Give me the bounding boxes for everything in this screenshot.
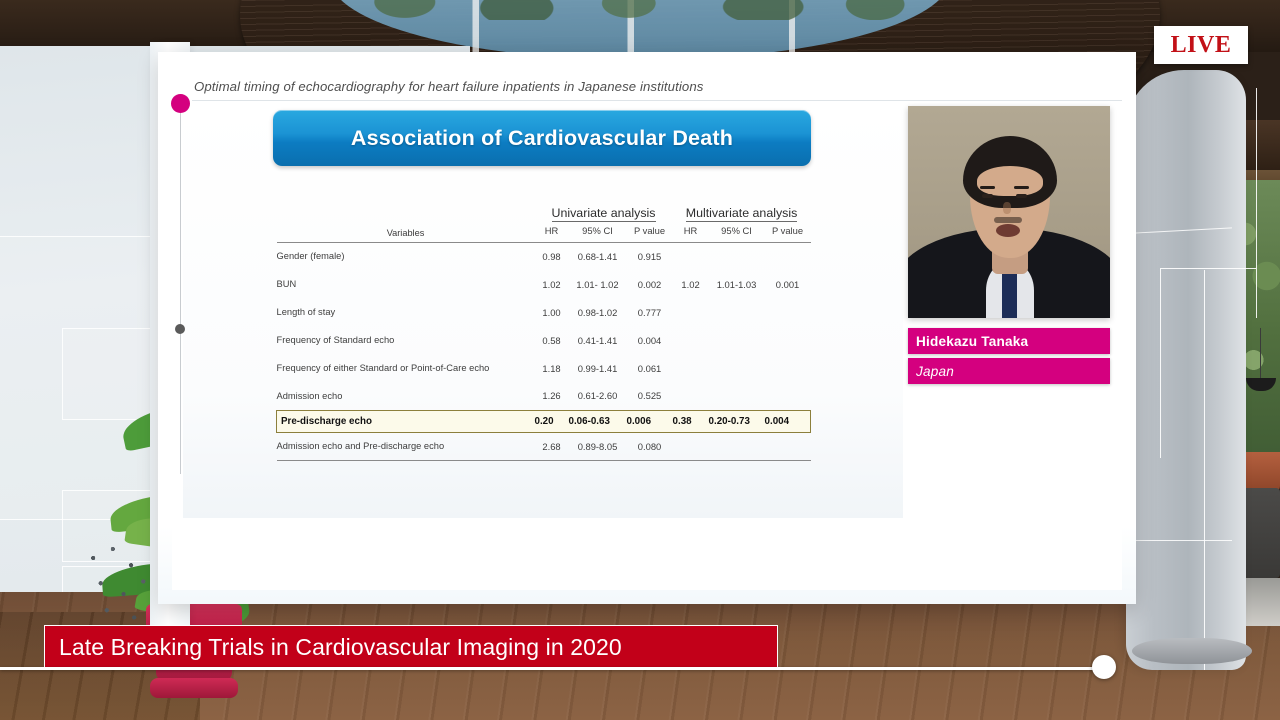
cell-multi-ci <box>709 432 765 460</box>
slide-progress-marker[interactable] <box>171 94 190 113</box>
cell-multi-hr <box>673 242 709 270</box>
cell-uni-ci: 0.99-1.41 <box>569 354 627 382</box>
cell-uni-ci: 0.89-8.05 <box>569 432 627 460</box>
column-header-variables: Variables <box>277 206 535 241</box>
cell-multi-hr: 0.38 <box>673 410 709 432</box>
cell-uni-ci: 1.01- 1.02 <box>569 270 627 298</box>
cell-uni-ci: 0.68-1.41 <box>569 242 627 270</box>
speaker-mouth <box>996 224 1020 237</box>
cell-uni-hr: 0.20 <box>535 410 569 432</box>
table-row: Length of stay1.000.98-1.020.777 <box>277 298 811 326</box>
lower-third-title: Late Breaking Trials in Cardiovascular I… <box>45 634 622 661</box>
cell-variable: Pre-discharge echo <box>277 410 535 432</box>
group-header-multivariate: Multivariate analysis <box>673 206 811 225</box>
speaker-nose <box>1003 202 1011 214</box>
speaker-video-feed[interactable] <box>908 106 1110 318</box>
speaker-country: Japan <box>908 364 954 379</box>
column-frame <box>1160 268 1256 458</box>
table-row: Frequency of Standard echo0.580.41-1.410… <box>277 326 811 354</box>
live-badge: LIVE <box>1154 26 1248 64</box>
cell-multi-hr <box>673 432 709 460</box>
cell-uni-hr: 1.02 <box>535 270 569 298</box>
cell-uni-hr: 0.58 <box>535 326 569 354</box>
cell-uni-hr: 0.98 <box>535 242 569 270</box>
table-row: Admission echo1.260.61-2.600.525 <box>277 382 811 410</box>
table-footer-rule <box>277 460 811 461</box>
cell-multi-ci: 1.01-1.03 <box>709 270 765 298</box>
cell-multi-hr <box>673 298 709 326</box>
table-group-header-row: Variables Univariate analysis Multivaria… <box>277 206 811 225</box>
cell-uni-hr: 1.00 <box>535 298 569 326</box>
cell-multi-ci <box>709 298 765 326</box>
cell-multi-p: 0.001 <box>765 270 811 298</box>
table-row-highlighted: Pre-discharge echo0.200.06-0.630.0060.38… <box>277 410 811 432</box>
cell-variable: Gender (female) <box>277 242 535 270</box>
column-header-uni-hr: HR <box>535 225 569 241</box>
cell-uni-ci: 0.61-2.60 <box>569 382 627 410</box>
slide-scroll-thumb[interactable] <box>175 324 185 334</box>
slide-subtitle: Optimal timing of echocardiography for h… <box>194 79 894 94</box>
cell-multi-p <box>765 432 811 460</box>
cell-multi-ci: 0.20-0.73 <box>709 410 765 432</box>
speaker-eye-right <box>1016 194 1027 198</box>
speaker-eye-left <box>982 194 993 198</box>
skylight-foliage <box>360 0 920 20</box>
cell-multi-hr <box>673 354 709 382</box>
speaker-eyebrow-right <box>1014 186 1029 189</box>
cell-multi-p <box>765 382 811 410</box>
cell-uni-ci: 0.41-1.41 <box>569 326 627 354</box>
column-header-multi-hr: HR <box>673 225 709 241</box>
speaker-moustache <box>994 217 1022 223</box>
live-badge-label: LIVE <box>1171 32 1232 59</box>
cell-variable: Frequency of Standard echo <box>277 326 535 354</box>
column-header-uni-ci: 95% CI <box>569 225 627 241</box>
column-seam <box>1256 88 1257 318</box>
cell-multi-p <box>765 242 811 270</box>
cell-variable: Admission echo <box>277 382 535 410</box>
cell-uni-p: 0.915 <box>627 242 673 270</box>
table-row: Admission echo and Pre-discharge echo2.6… <box>277 432 811 460</box>
cell-variable: Admission echo and Pre-discharge echo <box>277 432 535 460</box>
column-header-multi-ci: 95% CI <box>709 225 765 241</box>
playback-timeline-handle[interactable] <box>1092 655 1116 679</box>
speaker-panel: Hidekazu Tanaka Japan <box>908 106 1110 391</box>
cell-uni-p: 0.061 <box>627 354 673 382</box>
table-row: Gender (female)0.980.68-1.410.915 <box>277 242 811 270</box>
cell-variable: Length of stay <box>277 298 535 326</box>
cell-multi-ci <box>709 242 765 270</box>
cell-multi-hr <box>673 326 709 354</box>
results-table: Variables Univariate analysis Multivaria… <box>276 206 810 461</box>
slide-divider <box>192 100 1122 101</box>
cell-variable: BUN <box>277 270 535 298</box>
cell-uni-p: 0.777 <box>627 298 673 326</box>
cell-multi-ci <box>709 354 765 382</box>
slide-banner: Association of Cardiovascular Death <box>273 110 811 166</box>
slide-banner-title: Association of Cardiovascular Death <box>351 126 733 151</box>
table-body: Gender (female)0.980.68-1.410.915BUN1.02… <box>277 242 811 460</box>
column-header-uni-p: P value <box>627 225 673 241</box>
cell-uni-hr: 1.18 <box>535 354 569 382</box>
cell-multi-p: 0.004 <box>765 410 811 432</box>
cell-multi-p <box>765 354 811 382</box>
cell-uni-p: 0.080 <box>627 432 673 460</box>
cell-multi-hr: 1.02 <box>673 270 709 298</box>
playback-timeline[interactable] <box>0 667 1110 670</box>
cell-multi-ci <box>709 326 765 354</box>
speaker-name-plate: Hidekazu Tanaka <box>908 328 1110 354</box>
cell-variable: Frequency of either Standard or Point-of… <box>277 354 535 382</box>
cell-multi-hr <box>673 382 709 410</box>
speaker-tie <box>1002 268 1017 318</box>
cell-uni-p: 0.004 <box>627 326 673 354</box>
cell-multi-p <box>765 326 811 354</box>
cell-uni-p: 0.002 <box>627 270 673 298</box>
cell-uni-p: 0.006 <box>627 410 673 432</box>
cell-uni-hr: 1.26 <box>535 382 569 410</box>
speaker-country-plate: Japan <box>908 358 1110 384</box>
table-row: Frequency of either Standard or Point-of… <box>277 354 811 382</box>
cell-uni-ci: 0.98-1.02 <box>569 298 627 326</box>
cell-uni-ci: 0.06-0.63 <box>569 410 627 432</box>
column-header-multi-p: P value <box>765 225 811 241</box>
lower-third-banner: Late Breaking Trials in Cardiovascular I… <box>44 625 778 670</box>
table-row: BUN1.021.01- 1.020.0021.021.01-1.030.001 <box>277 270 811 298</box>
speaker-hair <box>963 136 1057 208</box>
speaker-eyebrow-left <box>980 186 995 189</box>
slide-scroll-track[interactable] <box>180 104 181 474</box>
group-header-univariate: Univariate analysis <box>535 206 673 225</box>
speaker-name: Hidekazu Tanaka <box>908 334 1028 349</box>
cell-uni-p: 0.525 <box>627 382 673 410</box>
flower-pot-base <box>150 678 238 698</box>
cell-uni-hr: 2.68 <box>535 432 569 460</box>
column-base <box>1132 638 1252 664</box>
cell-multi-ci <box>709 382 765 410</box>
cell-multi-p <box>765 298 811 326</box>
broadcast-stage: Optimal timing of echocardiography for h… <box>0 0 1280 720</box>
